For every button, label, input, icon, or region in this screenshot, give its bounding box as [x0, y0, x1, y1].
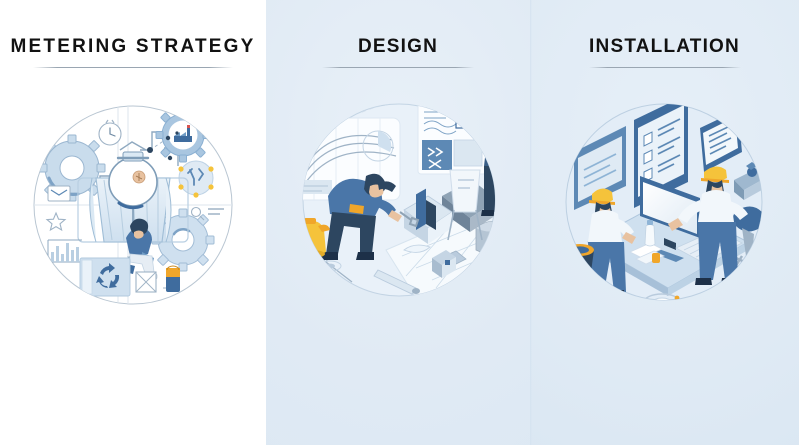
paper-bin: [566, 244, 594, 276]
gear-factory-icon: [156, 108, 210, 162]
storage-tank: [476, 221, 506, 253]
paint-bucket: [166, 266, 180, 292]
panel-design: DESIGN: [266, 0, 530, 445]
envelope-icon: [48, 186, 70, 201]
installation-illustration: [530, 0, 799, 445]
box-cross-icon: [136, 272, 156, 292]
three-panel-banner: METERING STRATEGY: [0, 0, 799, 445]
design-illustration: [266, 0, 530, 445]
metering-strategy-illustration: [0, 0, 266, 445]
recycle-icon: [80, 258, 130, 296]
blueprint-panel-small: [418, 100, 486, 174]
standing-supervisor-with-tie: [481, 114, 514, 216]
panel-metering-strategy: METERING STRATEGY: [0, 0, 266, 445]
panel-installation: INSTALLATION: [530, 0, 799, 445]
